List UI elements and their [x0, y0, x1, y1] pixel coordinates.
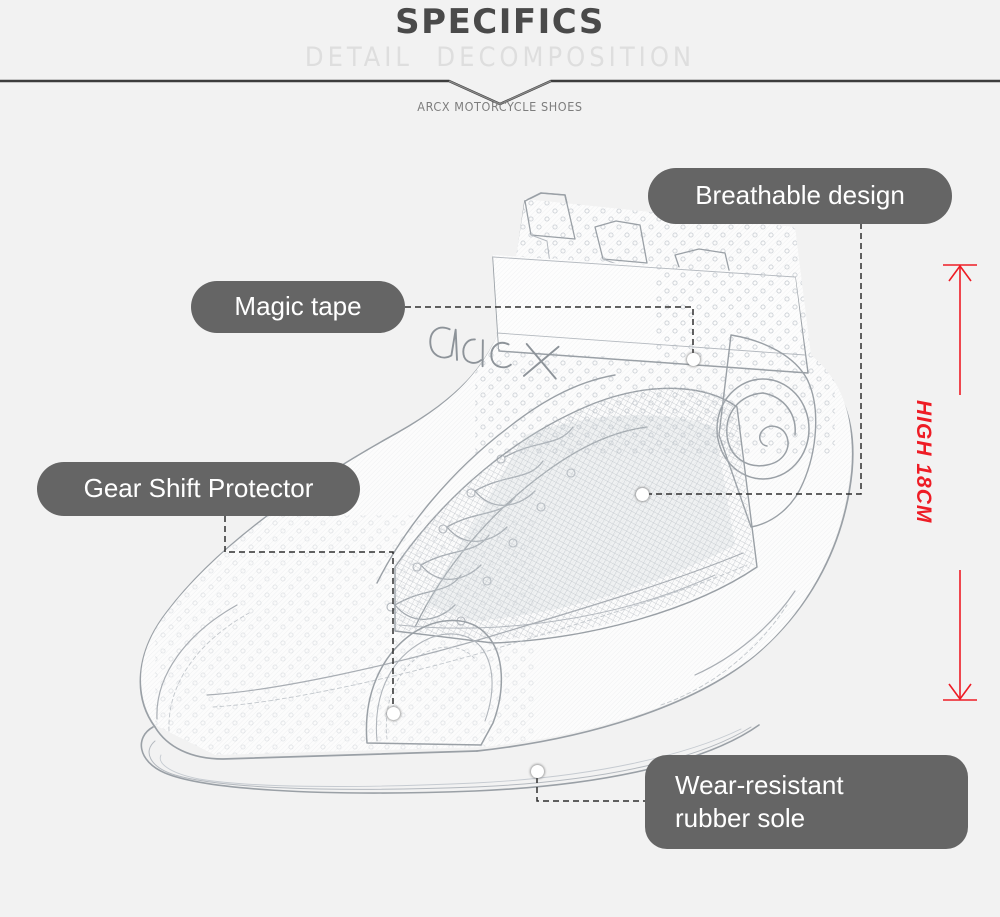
marker-dot-rubber-sole	[531, 765, 544, 778]
callout-wear-resistant-rubber-sole: Wear-resistant rubber sole	[645, 755, 968, 849]
specifics-infographic: SPECIFICS DETAIL DECOMPOSITION ARCX MOTO…	[0, 0, 1000, 917]
marker-dot-gear-shift	[387, 707, 400, 720]
product-caption: ARCX MOTORCYCLE SHOES	[0, 99, 1000, 114]
page-title: SPECIFICS	[0, 2, 1000, 42]
height-dimension-label: HIGH 18CM	[911, 400, 935, 523]
callout-breathable-design: Breathable design	[648, 168, 952, 224]
callout-rubber-sole-line2: rubber sole	[675, 802, 805, 835]
page-subtitle: DETAIL DECOMPOSITION	[0, 42, 1000, 73]
callout-rubber-sole-line1: Wear-resistant	[675, 769, 844, 802]
marker-dot-magic-tape	[687, 353, 700, 366]
height-dimension-arrow	[925, 255, 1000, 710]
callout-magic-tape: Magic tape	[191, 281, 405, 333]
callout-gear-shift-protector: Gear Shift Protector	[37, 462, 360, 516]
marker-dot-breathable	[636, 488, 649, 501]
